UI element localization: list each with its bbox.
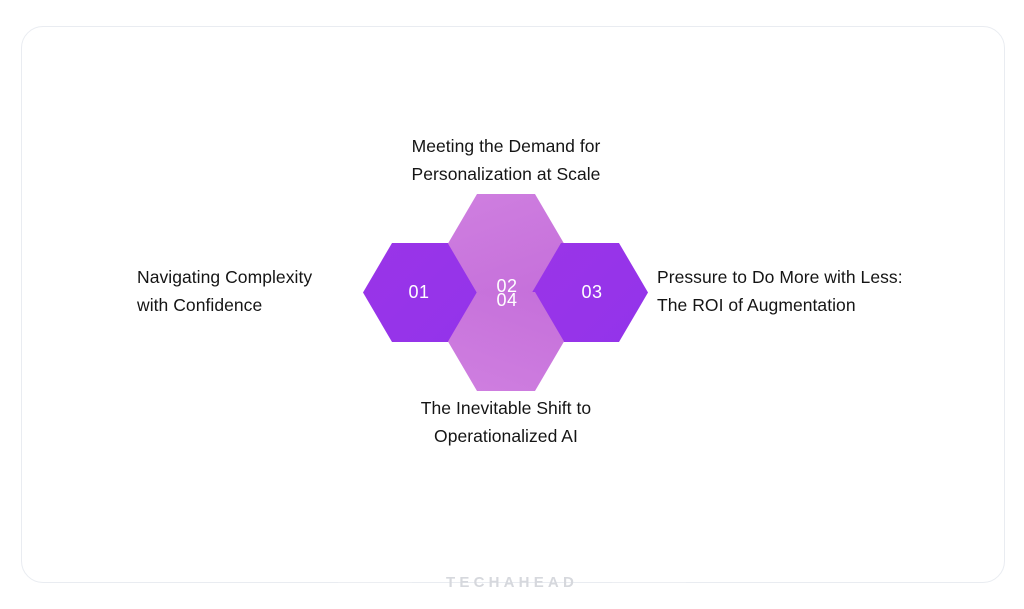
hexagon-number-01: 01 — [408, 283, 429, 301]
hexagon-cluster-diagram: 01 02 03 04 Navigating Complexity with C… — [0, 0, 1024, 609]
screenshot-canvas: 01 02 03 04 Navigating Complexity with C… — [0, 0, 1024, 609]
hexagon-label-02: Meeting the Demand for Personalization a… — [356, 132, 656, 188]
hexagon-label-01: Navigating Complexity with Confidence — [137, 263, 362, 319]
watermark-rule-right — [612, 582, 686, 583]
watermark-rule-left — [338, 582, 412, 583]
hexagon-label-04: The Inevitable Shift to Operationalized … — [356, 394, 656, 450]
watermark: TECHAHEAD — [0, 568, 1024, 596]
watermark-text: TECHAHEAD — [446, 575, 578, 590]
hexagon-number-04: 04 — [496, 291, 517, 309]
hexagon-number-02: 02 — [496, 277, 517, 295]
hexagon-number-03: 03 — [581, 283, 602, 301]
hexagon-label-03: Pressure to Do More with Less: The ROI o… — [657, 263, 947, 319]
